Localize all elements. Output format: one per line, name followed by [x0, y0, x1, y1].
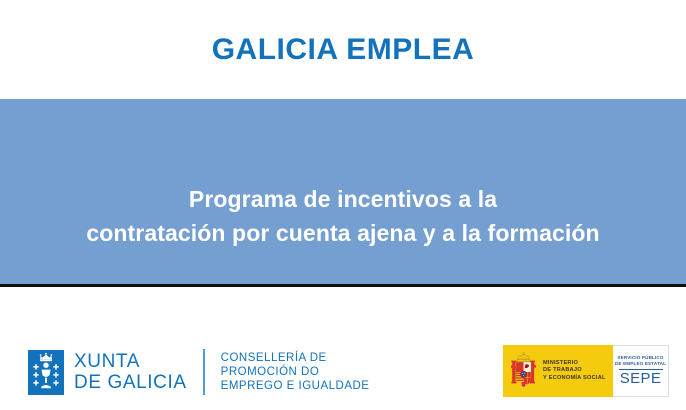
- sepe-subtitle: SERVICIO PÚBLICO DE EMPLEO ESTATAL: [615, 355, 666, 367]
- poster-root: GALICIA EMPLEA Programa de incentivos a …: [0, 0, 686, 410]
- ministerio-line-3: Y ECONOMÍA SOCIAL: [543, 375, 606, 382]
- ministerio-wordmark: MINISTERIO DE TRABAJO Y ECONOMÍA SOCIAL: [543, 360, 606, 382]
- conselleria-wordmark: CONSELLERÍA DE PROMOCIÓN DO EMPREGO E IG…: [221, 351, 370, 393]
- conselleria-line-1: CONSELLERÍA DE: [221, 351, 370, 365]
- page-title: GALICIA EMPLEA: [212, 33, 475, 67]
- program-title-line-1: Programa de incentivos a la: [86, 182, 599, 216]
- program-title-line-2: contratación por cuenta ajena y a la for…: [86, 216, 599, 250]
- xunta-wordmark-line-1: XUNTA: [74, 351, 187, 372]
- ministerio-line-1: MINISTERIO: [543, 360, 606, 367]
- xunta-wordmark: XUNTA DE GALICIA: [74, 351, 187, 393]
- conselleria-line-3: EMPREGO E IGUALDADE: [221, 379, 370, 393]
- ministerio-line-2: DE TRABAJO: [543, 367, 606, 374]
- sepe-block: SERVICIO PÚBLICO DE EMPLEO ESTATAL SEPE: [613, 345, 669, 397]
- sepe-subtitle-line-2: DE EMPLEO ESTATAL: [615, 361, 666, 367]
- program-band-text: Programa de incentivos a la contratación…: [86, 182, 599, 250]
- conselleria-line-2: PROMOCIÓN DO: [221, 365, 370, 379]
- program-band: Programa de incentivos a la contratación…: [0, 99, 686, 284]
- spain-coat-of-arms-icon: [510, 351, 537, 391]
- xunta-emblem-icon: [28, 350, 64, 395]
- xunta-wordmark-line-2: DE GALICIA: [74, 372, 187, 393]
- ministerio-block: MINISTERIO DE TRABAJO Y ECONOMÍA SOCIAL: [503, 345, 613, 397]
- sepe-wordmark: SEPE: [620, 371, 662, 387]
- logo-divider: [203, 349, 205, 395]
- gobierno-sepe-logo: MINISTERIO DE TRABAJO Y ECONOMÍA SOCIAL …: [503, 345, 669, 397]
- title-section: GALICIA EMPLEA: [0, 0, 686, 99]
- footer-section: XUNTA DE GALICIA CONSELLERÍA DE PROMOCIÓ…: [0, 287, 686, 410]
- xunta-de-galicia-logo: XUNTA DE GALICIA CONSELLERÍA DE PROMOCIÓ…: [28, 349, 369, 395]
